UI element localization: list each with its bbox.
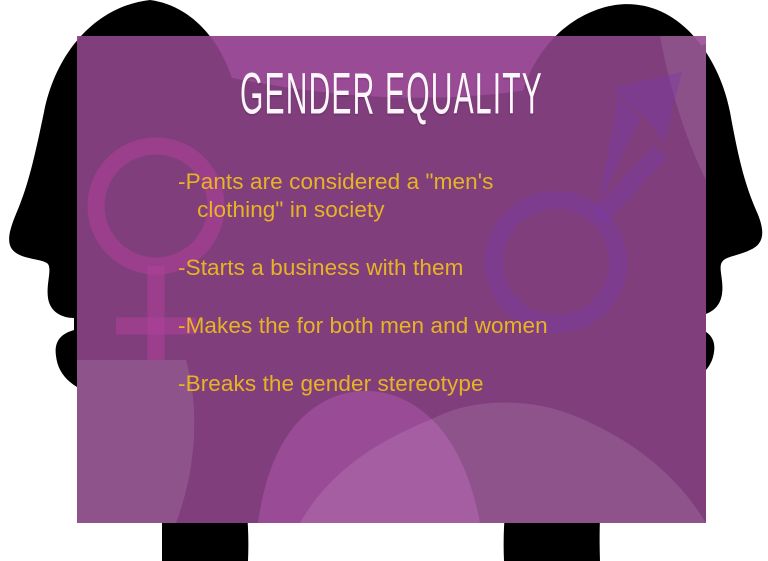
page-title: GENDER EQUALITY xyxy=(203,65,580,123)
presentation-slide: GENDER EQUALITY -Pants are considered a … xyxy=(0,0,768,561)
slide-content: GENDER EQUALITY -Pants are considered a … xyxy=(77,36,706,523)
bullet-list: -Pants are considered a "men's clothing"… xyxy=(178,168,698,398)
list-item: -Starts a business with them xyxy=(178,254,698,282)
list-item: -Breaks the gender stereotype xyxy=(178,370,698,398)
list-item: -Makes the for both men and women xyxy=(178,312,698,340)
list-item: -Pants are considered a "men's clothing"… xyxy=(178,168,698,224)
